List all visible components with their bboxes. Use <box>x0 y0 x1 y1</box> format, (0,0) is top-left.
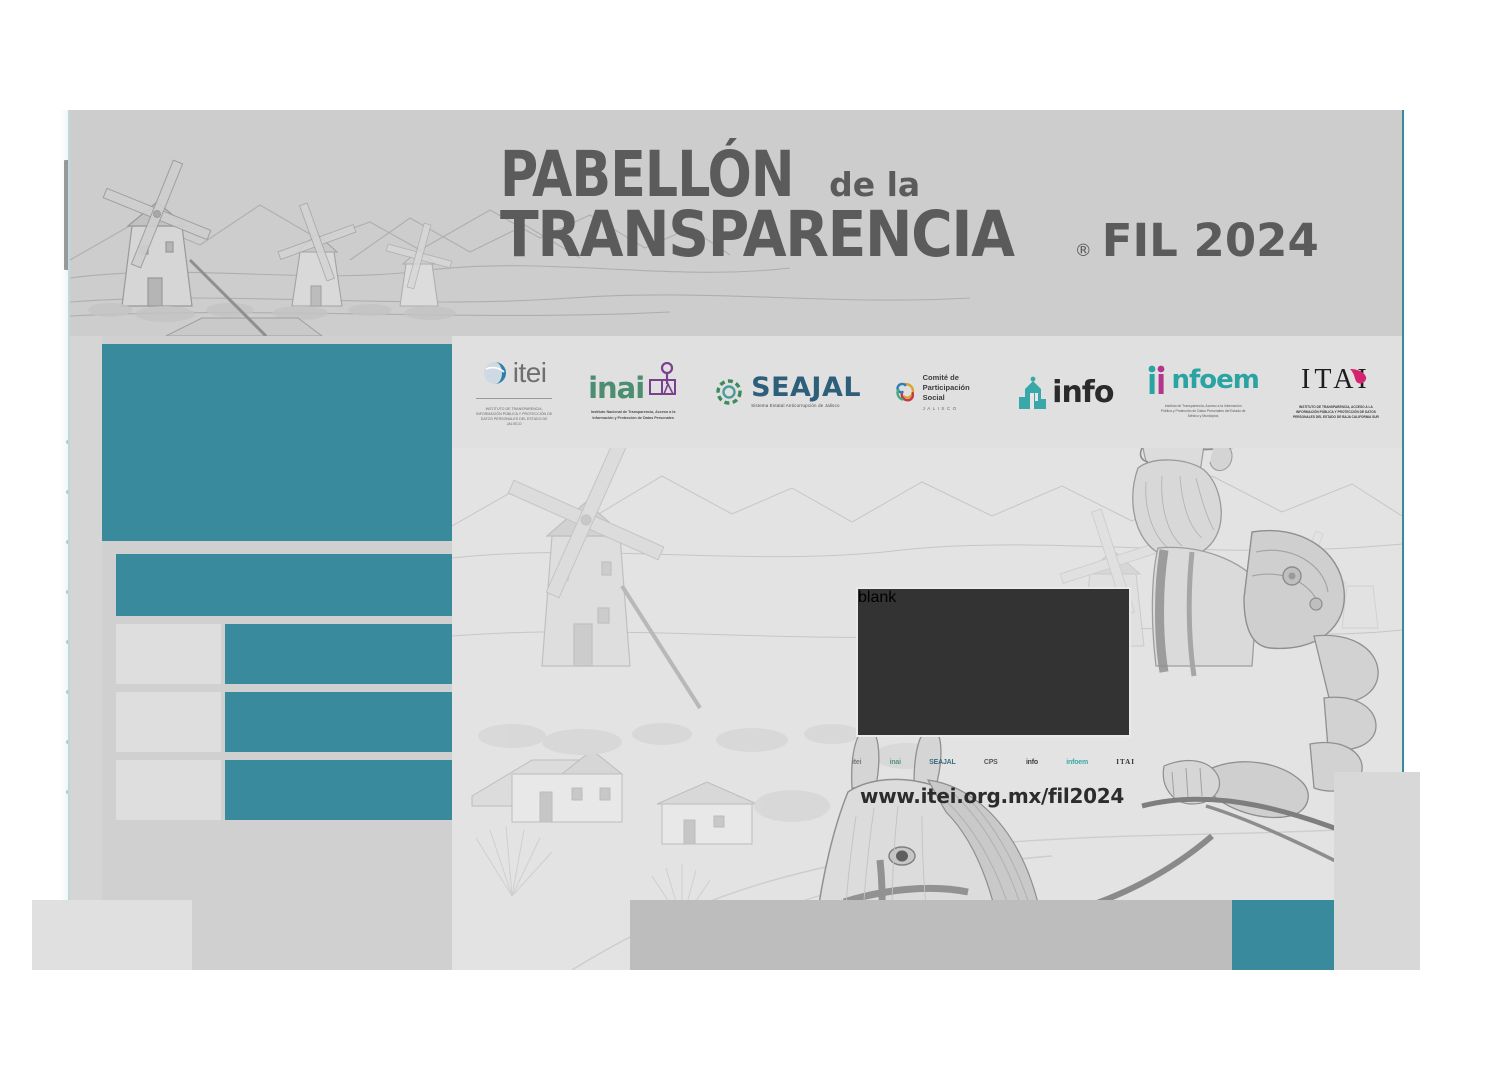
comite-caption: JALISCO <box>923 406 986 411</box>
info-wordmark: info <box>1052 375 1113 410</box>
video-player[interactable]: blank <box>856 587 1131 737</box>
logo-inai[interactable]: inai Instituto Nacional de Transparencia… <box>587 362 679 421</box>
sidebar-row-value[interactable] <box>225 624 452 684</box>
inai-wordmark: inai <box>588 377 644 400</box>
logo-itai[interactable]: ITAI INSTITUTO DE TRANSPARENCIA, ACCESO … <box>1293 364 1379 420</box>
infoem-wordmark: nfoem <box>1171 365 1258 395</box>
mini-logo-seajal: SEAJAL <box>929 759 955 766</box>
mini-logo-inai: inai <box>890 759 901 766</box>
itei-globe-icon <box>482 360 508 386</box>
info-building-icon <box>1019 375 1049 409</box>
logo-info[interactable]: info <box>1019 375 1113 410</box>
sidebar <box>102 336 452 970</box>
footer-center-bar <box>630 900 1275 970</box>
comite-spiral-icon <box>895 374 916 410</box>
sidebar-hero-placeholder[interactable] <box>102 344 452 541</box>
sidebar-bar-placeholder[interactable] <box>116 554 452 616</box>
infoem-caption: Instituto de Transparencia, Acceso a la … <box>1159 404 1247 419</box>
itai-magenta-accent-icon <box>1348 367 1368 389</box>
seajal-wordmark: SEAJAL <box>751 376 861 400</box>
footer-right-panel <box>1334 772 1420 970</box>
sidebar-row[interactable] <box>102 760 438 820</box>
main-stage: itei INSTITUTO DE TRANSPARENCIA, INFORMA… <box>452 336 1402 970</box>
itei-wordmark: itei <box>513 357 547 389</box>
registered-mark-icon: ® <box>1075 244 1092 260</box>
inai-caption: Instituto Nacional de Transparencia, Acc… <box>587 410 679 421</box>
logo-comite-participacion-social[interactable]: Comité de Participación Social JALISCO <box>895 373 985 411</box>
mini-logo-itei: itei <box>852 759 861 766</box>
footer-teal-block <box>1232 900 1342 970</box>
comite-wordmark: Comité de Participación Social <box>923 373 986 403</box>
sidebar-row[interactable] <box>102 624 438 684</box>
sidebar-row-value[interactable] <box>225 692 452 752</box>
mini-logo-itai: ITAI <box>1116 758 1135 766</box>
itei-caption: INSTITUTO DE TRANSPARENCIA, INFORMACIÓN … <box>475 407 553 428</box>
footer-left-block <box>32 900 192 970</box>
site-url[interactable]: www.itei.org.mx/fil2024 <box>802 784 1182 808</box>
inai-person-cube-icon <box>648 362 678 400</box>
mini-partner-logos-row: itei inai SEAJAL CPS info infoem ITAI <box>852 751 1135 773</box>
itai-caption: INSTITUTO DE TRANSPARENCIA, ACCESO A LA … <box>1293 405 1379 420</box>
seajal-caption: Sistema Estatal Anticorrupción de Jalisc… <box>751 403 861 408</box>
title-de-la: de la <box>829 170 920 200</box>
partner-logos-row: itei INSTITUTO DE TRANSPARENCIA, INFORMA… <box>452 336 1402 448</box>
seajal-ring-icon <box>713 376 745 408</box>
page-canvas: PABELLÓNde la TRANSPARENCIA®FIL 2024 <box>68 110 1404 970</box>
logo-seajal[interactable]: SEAJAL Sistema Estatal Anticorrupción de… <box>713 376 861 408</box>
sidebar-row-value[interactable] <box>225 760 452 820</box>
title-fil-2024: FIL 2024 <box>1102 220 1319 261</box>
logo-itei[interactable]: itei INSTITUTO DE TRANSPARENCIA, INFORMA… <box>475 357 553 428</box>
sidebar-row-label <box>116 624 221 684</box>
hero-banner: PABELLÓNde la TRANSPARENCIA®FIL 2024 <box>70 110 1402 336</box>
title-pabellon: PABELLÓN <box>500 146 794 204</box>
mini-logo-info: info <box>1026 759 1038 766</box>
itei-divider <box>476 398 552 399</box>
sidebar-row[interactable] <box>102 692 438 752</box>
infoem-people-icon <box>1147 365 1169 395</box>
sidebar-row-label <box>116 692 221 752</box>
mini-logo-comite: CPS <box>984 759 998 766</box>
logo-infoem[interactable]: nfoem Instituto de Transparencia, Acceso… <box>1147 365 1258 419</box>
sidebar-row-label <box>116 760 221 820</box>
mini-logo-infoem: infoem <box>1066 759 1088 766</box>
content-area: itei INSTITUTO DE TRANSPARENCIA, INFORMA… <box>70 336 1402 970</box>
title-transparencia: TRANSPARENCIA <box>500 206 1014 264</box>
page-title: PABELLÓNde la TRANSPARENCIA®FIL 2024 <box>500 146 1319 264</box>
